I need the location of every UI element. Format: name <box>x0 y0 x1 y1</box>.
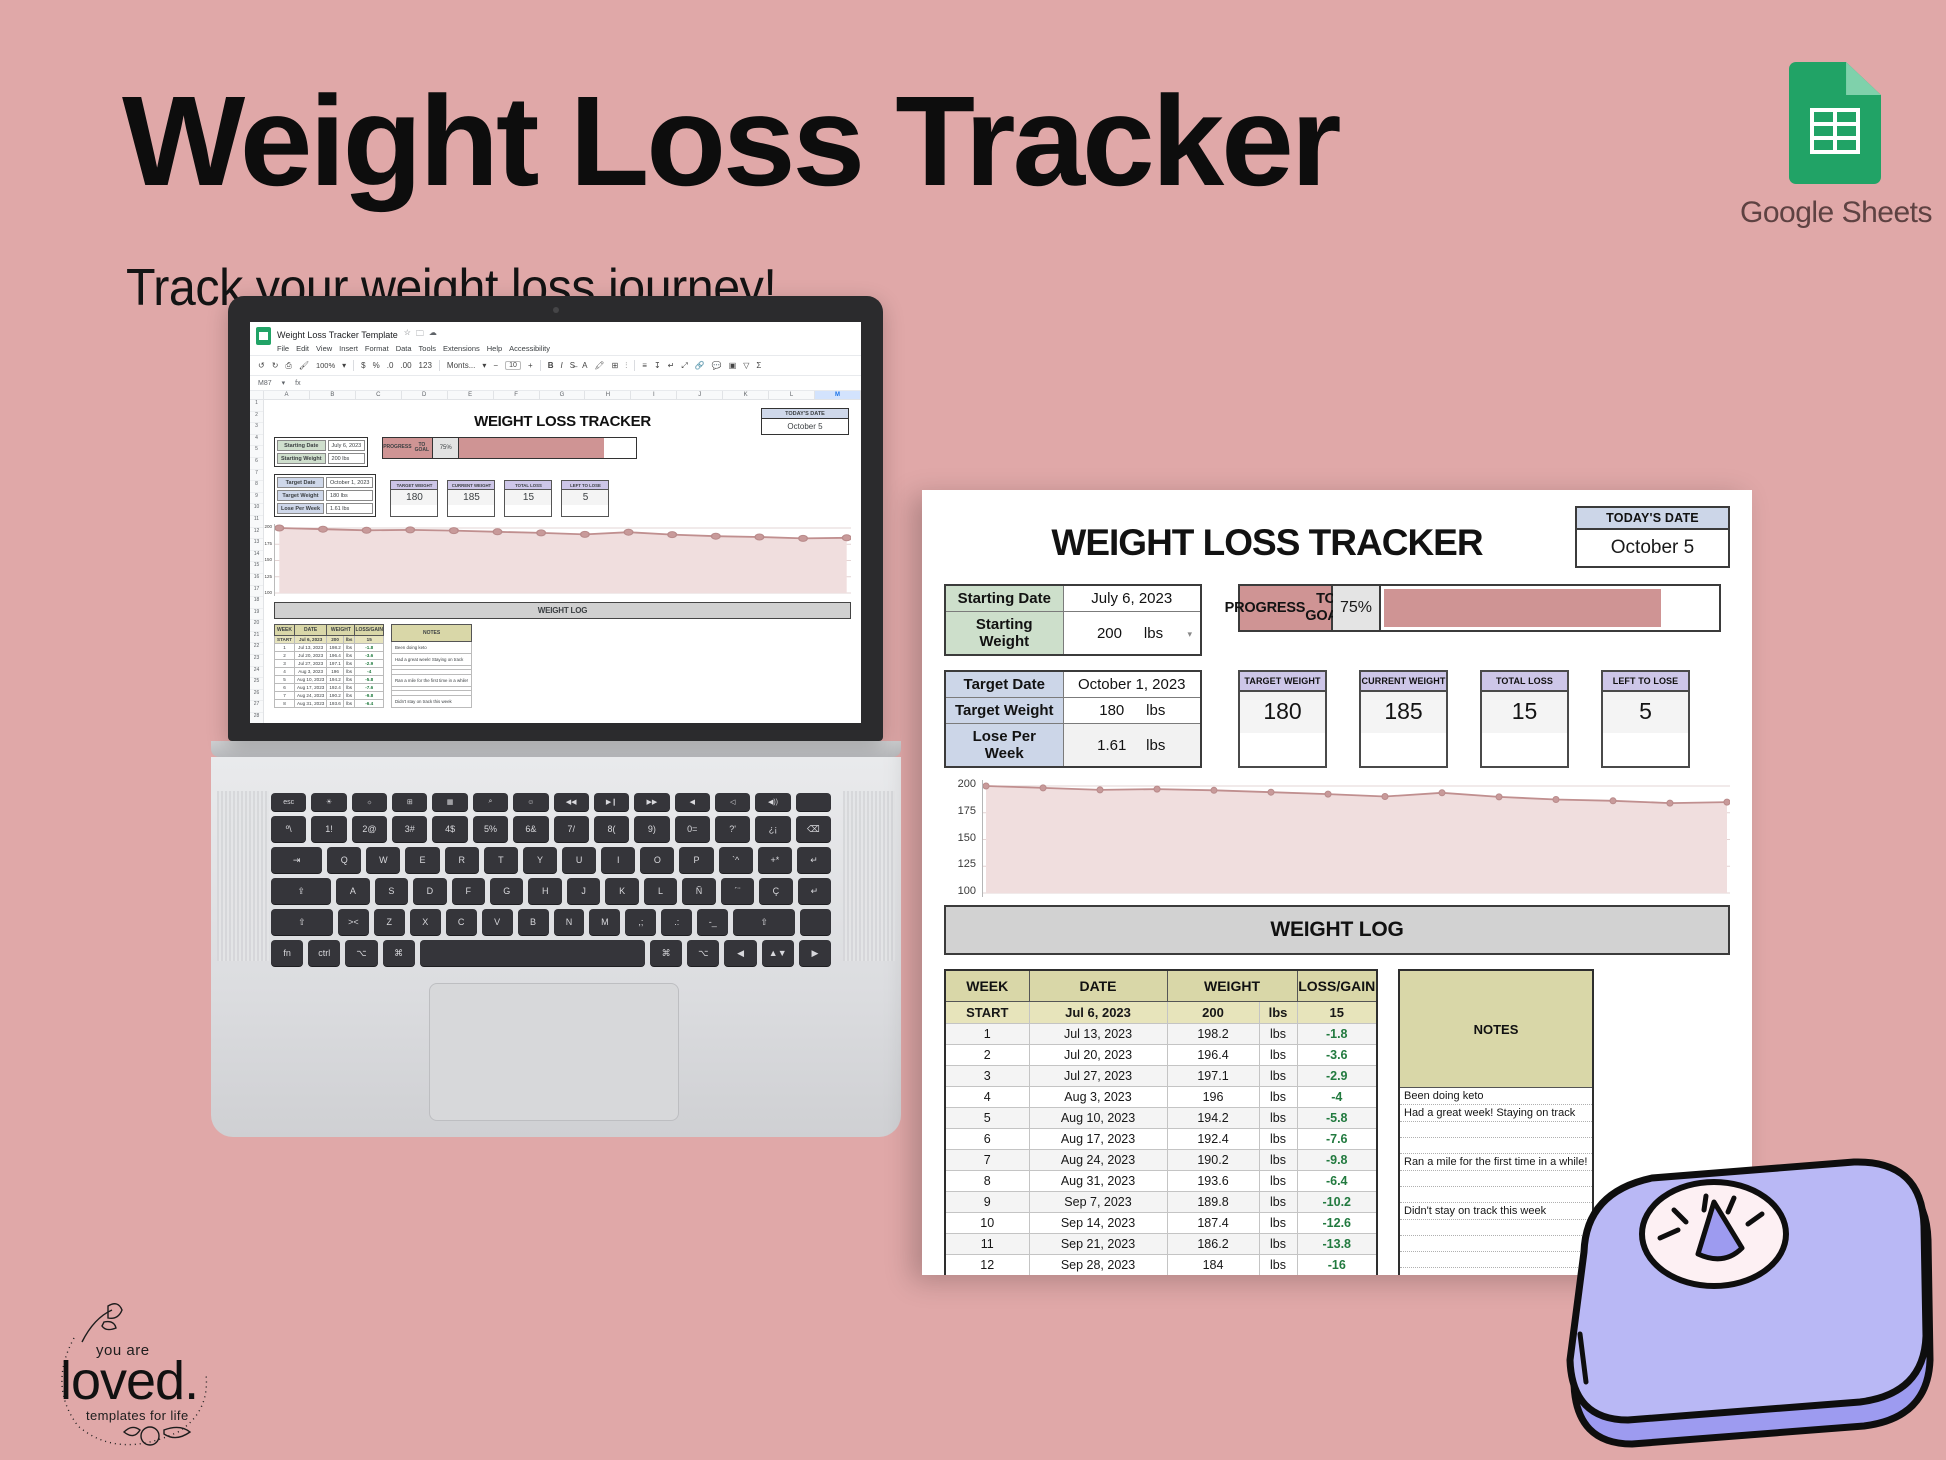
cell-change[interactable]: -5.8 <box>1297 1108 1377 1129</box>
key-[interactable]: ⌫ <box>796 816 831 842</box>
cell-week[interactable]: START <box>945 1002 1029 1024</box>
menu-format[interactable]: Format <box>365 344 389 353</box>
cell-week[interactable]: 8 <box>945 1171 1029 1192</box>
undo-icon[interactable]: ↺ <box>258 361 265 370</box>
cell-change[interactable]: -16 <box>1297 1255 1377 1276</box>
key-v[interactable]: V <box>482 909 513 935</box>
text-color-icon[interactable]: A <box>582 361 587 370</box>
table-row[interactable] <box>1399 1122 1593 1138</box>
key-blank[interactable] <box>796 793 831 811</box>
table-row[interactable]: 1Jul 13, 2023198.2lbs-1.8 <box>945 1024 1377 1045</box>
row-header[interactable]: 23 <box>250 655 263 667</box>
key-9[interactable]: 9) <box>634 816 669 842</box>
key-8[interactable]: 8( <box>594 816 629 842</box>
key-[interactable]: ↵ <box>797 847 831 873</box>
row-header[interactable]: 3 <box>250 423 263 435</box>
key-[interactable]: Ñ <box>682 878 715 904</box>
cell-week[interactable]: 8 <box>275 700 295 708</box>
cell-weight[interactable]: 190.2 <box>1167 1150 1259 1171</box>
row-header[interactable]: 9 <box>250 493 263 505</box>
key-[interactable]: >< <box>338 909 369 935</box>
cell-weight[interactable]: 194.2 <box>1167 1108 1259 1129</box>
row-header[interactable]: 27 <box>250 701 263 713</box>
cell-unit[interactable]: lbs <box>1259 1002 1297 1024</box>
mini-todays-date-value[interactable]: October 5 <box>762 419 848 434</box>
table-row[interactable]: STARTJul 6, 2023200lbs15 <box>275 636 384 644</box>
table-row[interactable]: Ran a mile for the first time in a while… <box>391 674 471 686</box>
key-[interactable]: ☺ <box>513 793 548 811</box>
cell-week[interactable]: 2 <box>945 1045 1029 1066</box>
mini-starting-weight-value[interactable]: 200 lbs <box>328 453 366 464</box>
key-[interactable]: ⇧ <box>733 909 795 935</box>
more-formats-icon[interactable]: 123 <box>419 361 432 370</box>
key-n[interactable]: N <box>554 909 585 935</box>
cell-unit[interactable]: lbs <box>1259 1129 1297 1150</box>
cell-note[interactable]: Ran a mile for the first time in a while… <box>391 674 471 686</box>
cell-note[interactable] <box>1399 1122 1593 1138</box>
row-header[interactable]: 25 <box>250 678 263 690</box>
print-icon[interactable]: ⎙ <box>285 361 291 371</box>
cell-change[interactable]: -3.6 <box>1297 1045 1377 1066</box>
text-wrap-icon[interactable]: ↵ <box>668 361 675 370</box>
key-m[interactable]: M <box>589 909 620 935</box>
cell-week[interactable]: 2 <box>275 652 295 660</box>
row-header[interactable]: 18 <box>250 597 263 609</box>
key-r[interactable]: R <box>445 847 479 873</box>
key-p[interactable]: P <box>679 847 713 873</box>
chevron-down-icon[interactable]: ▾ <box>282 379 286 387</box>
key-x[interactable]: X <box>410 909 441 935</box>
key-l[interactable]: L <box>644 878 677 904</box>
key-[interactable]: ◁ <box>715 793 750 811</box>
select-all-corner[interactable] <box>250 391 264 399</box>
cell-weight[interactable]: 196.4 <box>327 652 344 660</box>
row-header[interactable]: 2 <box>250 412 263 424</box>
menu-insert[interactable]: Insert <box>339 344 358 353</box>
key-[interactable]: -_ <box>697 909 728 935</box>
key-ctrl[interactable]: ctrl <box>308 940 340 966</box>
key-[interactable]: ◀ <box>675 793 710 811</box>
merge-cells-icon[interactable]: ⫶ <box>625 361 627 371</box>
key-t[interactable]: T <box>484 847 518 873</box>
key-blank[interactable] <box>800 909 831 935</box>
menu-accessibility[interactable]: Accessibility <box>509 344 550 353</box>
chevron-down-icon[interactable]: ▾ <box>342 361 346 370</box>
cell-weight[interactable]: 198.2 <box>327 644 344 652</box>
chevron-down-icon[interactable]: ▾ <box>1187 629 1192 640</box>
cell-weight[interactable]: 196 <box>1167 1087 1259 1108</box>
cell-change[interactable]: -2.9 <box>355 660 384 668</box>
key-b[interactable]: B <box>518 909 549 935</box>
cell-date[interactable]: Aug 24, 2023 <box>294 692 326 700</box>
table-row[interactable]: 8Aug 31, 2023193.6lbs-6.4 <box>275 700 384 708</box>
key-[interactable]: ⇪ <box>271 878 331 904</box>
cell-weight[interactable]: 192.4 <box>1167 1129 1259 1150</box>
key-k[interactable]: K <box>605 878 638 904</box>
zoom-level[interactable]: 100% <box>316 361 335 370</box>
key-s[interactable]: S <box>375 878 408 904</box>
cell-week[interactable]: 10 <box>945 1213 1029 1234</box>
cell-week[interactable]: 7 <box>945 1150 1029 1171</box>
cell-weight[interactable]: 192.4 <box>327 684 344 692</box>
row-header[interactable]: 4 <box>250 435 263 447</box>
mini-target-date-value[interactable]: October 1, 2023 <box>326 477 373 488</box>
table-row[interactable]: Had a great week! Staying on track <box>391 653 471 665</box>
cell-unit[interactable]: lbs <box>1259 1192 1297 1213</box>
row-header[interactable]: 24 <box>250 667 263 679</box>
borders-icon[interactable]: ⊞ <box>612 361 619 370</box>
cell-date[interactable]: Aug 10, 2023 <box>294 676 326 684</box>
cell-date[interactable]: Aug 24, 2023 <box>1029 1150 1167 1171</box>
key-d[interactable]: D <box>413 878 446 904</box>
key-[interactable]: ◀ <box>724 940 756 966</box>
cell-unit[interactable]: lbs <box>343 692 355 700</box>
cell-weight[interactable]: 187.4 <box>1167 1213 1259 1234</box>
horizontal-align-icon[interactable]: ≡ <box>642 361 647 370</box>
keyboard[interactable]: esc☀☼⊞▦⌕☺◀◀▶❙▶▶◀◁◀))º\1!2@3#4$5%6&7/8(9)… <box>271 793 831 971</box>
key-[interactable]: ▶ <box>799 940 831 966</box>
column-header-i[interactable]: I <box>631 391 677 399</box>
table-row[interactable]: 7Aug 24, 2023190.2lbs-9.8 <box>945 1150 1377 1171</box>
column-header-k[interactable]: K <box>723 391 769 399</box>
cell-date[interactable]: Jul 27, 2023 <box>294 660 326 668</box>
increase-font-icon[interactable]: + <box>528 361 533 370</box>
redo-icon[interactable]: ↻ <box>272 361 279 370</box>
key-[interactable]: ◀◀ <box>554 793 589 811</box>
cell-note[interactable]: Didn't stay on track this week <box>391 695 471 707</box>
table-row[interactable]: 10Sep 14, 2023187.4lbs-12.6 <box>945 1213 1377 1234</box>
cell-week[interactable]: 1 <box>945 1024 1029 1045</box>
cell-week[interactable]: 7 <box>275 692 295 700</box>
cell-date[interactable]: Sep 14, 2023 <box>1029 1213 1167 1234</box>
column-header-b[interactable]: B <box>310 391 356 399</box>
cell-unit[interactable]: lbs <box>1259 1213 1297 1234</box>
menu-tools[interactable]: Tools <box>419 344 437 353</box>
table-row[interactable]: 4Aug 3, 2023196lbs-4 <box>275 668 384 676</box>
insert-link-icon[interactable]: 🔗 <box>695 361 705 370</box>
cell-change[interactable]: -13.8 <box>1297 1234 1377 1255</box>
table-row[interactable]: Had a great week! Staying on track <box>1399 1105 1593 1122</box>
column-header-a[interactable]: A <box>264 391 310 399</box>
key-7[interactable]: 7/ <box>554 816 589 842</box>
star-icon[interactable]: ☆ <box>404 328 411 342</box>
cell-unit[interactable]: lbs <box>343 660 355 668</box>
cell-week[interactable]: 5 <box>945 1108 1029 1129</box>
table-row[interactable]: 3Jul 27, 2023197.1lbs-2.9 <box>275 660 384 668</box>
cell-change[interactable]: -10.2 <box>1297 1192 1377 1213</box>
key-e[interactable]: E <box>405 847 439 873</box>
starting-date-value[interactable]: July 6, 2023 <box>1063 585 1201 612</box>
increase-decimal-icon[interactable]: .00 <box>400 361 411 370</box>
vertical-align-icon[interactable]: ↧ <box>654 361 661 370</box>
cell-weight[interactable]: 189.8 <box>1167 1192 1259 1213</box>
cell-date[interactable]: Jul 6, 2023 <box>1029 1002 1167 1024</box>
cell-date[interactable]: Aug 31, 2023 <box>1029 1171 1167 1192</box>
cell-unit[interactable]: lbs <box>1259 1087 1297 1108</box>
column-header-m[interactable]: M <box>815 391 861 399</box>
cell-unit[interactable]: lbs <box>343 700 355 708</box>
key-4[interactable]: 4$ <box>432 816 467 842</box>
fill-color-icon[interactable]: 🖍 <box>594 361 604 370</box>
cell-weight[interactable]: 200 <box>1167 1002 1259 1024</box>
cell-date[interactable]: Jul 13, 2023 <box>1029 1024 1167 1045</box>
key-c[interactable]: C <box>446 909 477 935</box>
cell-weight[interactable]: 190.2 <box>327 692 344 700</box>
starting-weight-value[interactable]: 200lbs▾ <box>1063 612 1201 656</box>
cell-date[interactable]: Sep 7, 2023 <box>1029 1192 1167 1213</box>
key-[interactable]: ⌥ <box>345 940 377 966</box>
key-h[interactable]: H <box>528 878 561 904</box>
key-[interactable]: ´¨ <box>721 878 754 904</box>
key-z[interactable]: Z <box>374 909 405 935</box>
key-[interactable]: ◀)) <box>755 793 790 811</box>
currency-format-icon[interactable]: $ <box>361 361 365 370</box>
cell-unit[interactable]: lbs <box>1259 1045 1297 1066</box>
cell-change[interactable]: -1.8 <box>355 644 384 652</box>
strikethrough-icon[interactable]: S̶ <box>570 361 575 370</box>
key-[interactable]: ▶▶ <box>634 793 669 811</box>
cell-week[interactable]: 3 <box>945 1066 1029 1087</box>
row-header[interactable]: 19 <box>250 609 263 621</box>
cell-week[interactable]: 3 <box>275 660 295 668</box>
cell-weight[interactable]: 193.6 <box>327 700 344 708</box>
column-header-j[interactable]: J <box>677 391 723 399</box>
row-header[interactable]: 28 <box>250 713 263 723</box>
cell-change[interactable]: -2.9 <box>1297 1066 1377 1087</box>
column-header-g[interactable]: G <box>540 391 586 399</box>
target-date-value[interactable]: October 1, 2023 <box>1063 671 1201 698</box>
cell-change[interactable]: -9.8 <box>355 692 384 700</box>
key-[interactable]: ⌘ <box>650 940 682 966</box>
cell-unit[interactable]: lbs <box>343 644 355 652</box>
cell-weight[interactable]: 193.6 <box>1167 1171 1259 1192</box>
document-title[interactable]: Weight Loss Tracker Template <box>277 330 398 340</box>
table-row[interactable]: 9Sep 7, 2023189.8lbs-10.2 <box>945 1192 1377 1213</box>
trackpad[interactable] <box>429 983 679 1121</box>
mini-starting-date-value[interactable]: July 6, 2023 <box>328 440 366 451</box>
menu-data[interactable]: Data <box>396 344 412 353</box>
cell-week[interactable]: 12 <box>945 1255 1029 1276</box>
cell-week[interactable]: 5 <box>275 676 295 684</box>
menu-edit[interactable]: Edit <box>296 344 309 353</box>
column-header-f[interactable]: F <box>494 391 540 399</box>
cell-weight[interactable]: 197.1 <box>1167 1066 1259 1087</box>
key-[interactable]: Ç <box>759 878 792 904</box>
cloud-status-icon[interactable]: ☁ <box>429 328 437 342</box>
table-row[interactable]: 3Jul 27, 2023197.1lbs-2.9 <box>945 1066 1377 1087</box>
key-q[interactable]: Q <box>327 847 361 873</box>
key-[interactable]: ▲▼ <box>762 940 794 966</box>
key-0[interactable]: 0= <box>675 816 710 842</box>
todays-date-value[interactable]: October 5 <box>1577 530 1728 566</box>
key-[interactable]: ⊞ <box>392 793 427 811</box>
cell-note[interactable]: Been doing keto <box>391 641 471 653</box>
table-row[interactable]: 11Sep 21, 2023186.2lbs-13.8 <box>945 1234 1377 1255</box>
table-row[interactable]: Been doing keto <box>1399 1088 1593 1105</box>
cell-change[interactable]: -9.8 <box>1297 1150 1377 1171</box>
cell-unit[interactable]: lbs <box>343 668 355 676</box>
key-esc[interactable]: esc <box>271 793 306 811</box>
italic-icon[interactable]: I <box>561 361 563 370</box>
menu-help[interactable]: Help <box>487 344 502 353</box>
cell-weight[interactable]: 186.2 <box>1167 1234 1259 1255</box>
row-header[interactable]: 8 <box>250 481 263 493</box>
text-rotation-icon[interactable]: ⤢ <box>681 361 687 371</box>
key-3[interactable]: 3# <box>392 816 427 842</box>
cell-weight[interactable]: 198.2 <box>1167 1024 1259 1045</box>
cell-week[interactable]: 9 <box>945 1192 1029 1213</box>
table-row[interactable]: 2Jul 20, 2023196.4lbs-3.6 <box>945 1045 1377 1066</box>
cell-unit[interactable]: lbs <box>1259 1066 1297 1087</box>
cell-week[interactable]: 6 <box>945 1129 1029 1150</box>
cell-weight[interactable]: 184 <box>1167 1255 1259 1276</box>
table-row[interactable]: 1Jul 13, 2023198.2lbs-1.8 <box>275 644 384 652</box>
key-f[interactable]: F <box>452 878 485 904</box>
cell-unit[interactable]: lbs <box>343 684 355 692</box>
mini-target-weight-value[interactable]: 180 lbs <box>326 490 373 501</box>
cell-unit[interactable]: lbs <box>1259 1255 1297 1276</box>
key-[interactable]: ⇧ <box>271 909 333 935</box>
cell-week[interactable]: 6 <box>275 684 295 692</box>
cell-note[interactable]: Been doing keto <box>1399 1088 1593 1105</box>
key-j[interactable]: J <box>567 878 600 904</box>
row-header[interactable]: 26 <box>250 690 263 702</box>
cell-date[interactable]: Aug 3, 2023 <box>294 668 326 676</box>
cell-week[interactable]: 1 <box>275 644 295 652</box>
decrease-font-icon[interactable]: − <box>493 361 498 370</box>
cell-change[interactable]: -6.4 <box>1297 1171 1377 1192</box>
key-[interactable]: `^ <box>719 847 753 873</box>
cell-date[interactable]: Aug 17, 2023 <box>1029 1129 1167 1150</box>
chevron-down-icon[interactable]: ▾ <box>482 361 486 370</box>
cell-date[interactable]: Sep 28, 2023 <box>1029 1255 1167 1276</box>
table-row[interactable]: 6Aug 17, 2023192.4lbs-7.6 <box>945 1129 1377 1150</box>
cell-change[interactable]: 15 <box>1297 1002 1377 1024</box>
cell-change[interactable]: -5.8 <box>355 676 384 684</box>
name-box[interactable]: M87 <box>258 380 272 387</box>
menu-view[interactable]: View <box>316 344 332 353</box>
row-header[interactable]: 20 <box>250 620 263 632</box>
key-[interactable]: ▶❙ <box>594 793 629 811</box>
table-row[interactable]: 12Sep 28, 2023184lbs-16 <box>945 1255 1377 1276</box>
key-[interactable]: ⌥ <box>687 940 719 966</box>
cell-date[interactable]: Jul 20, 2023 <box>1029 1045 1167 1066</box>
paint-format-icon[interactable]: 🖌 <box>299 361 309 370</box>
cell-change[interactable]: 15 <box>355 636 384 644</box>
cell-weight[interactable]: 200 <box>327 636 344 644</box>
key-[interactable]: ☼ <box>352 793 387 811</box>
bold-icon[interactable]: B <box>548 361 554 370</box>
key-[interactable]: +* <box>758 847 792 873</box>
key-u[interactable]: U <box>562 847 596 873</box>
key-5[interactable]: 5% <box>473 816 508 842</box>
table-row[interactable]: 4Aug 3, 2023196lbs-4 <box>945 1087 1377 1108</box>
cell-date[interactable]: Aug 3, 2023 <box>1029 1087 1167 1108</box>
cell-note[interactable]: Had a great week! Staying on track <box>1399 1105 1593 1122</box>
key-[interactable]: ☀ <box>311 793 346 811</box>
cell-date[interactable]: Jul 6, 2023 <box>294 636 326 644</box>
key-g[interactable]: G <box>490 878 523 904</box>
cell-unit[interactable]: lbs <box>1259 1171 1297 1192</box>
table-row[interactable]: 7Aug 24, 2023190.2lbs-9.8 <box>275 692 384 700</box>
column-header-h[interactable]: H <box>585 391 631 399</box>
menu-extensions[interactable]: Extensions <box>443 344 480 353</box>
key-i[interactable]: I <box>601 847 635 873</box>
cell-unit[interactable]: lbs <box>1259 1024 1297 1045</box>
key-[interactable]: .: <box>661 909 692 935</box>
functions-icon[interactable]: Σ <box>756 361 761 370</box>
row-header[interactable]: 6 <box>250 458 263 470</box>
decrease-decimal-icon[interactable]: .0 <box>387 361 394 370</box>
percent-format-icon[interactable]: % <box>373 361 380 370</box>
key-fn[interactable]: fn <box>271 940 303 966</box>
cell-week[interactable]: 4 <box>275 668 295 676</box>
key-[interactable]: ⌕ <box>473 793 508 811</box>
row-header[interactable]: 7 <box>250 470 263 482</box>
cell-weight[interactable]: 196.4 <box>1167 1045 1259 1066</box>
key-o[interactable]: O <box>640 847 674 873</box>
cell-unit[interactable]: lbs <box>343 636 355 644</box>
row-header[interactable]: 1 <box>250 400 263 412</box>
cell-change[interactable]: -6.4 <box>355 700 384 708</box>
column-header-c[interactable]: C <box>356 391 402 399</box>
cell-change[interactable]: -7.6 <box>355 684 384 692</box>
key-[interactable]: ⇥ <box>271 847 322 873</box>
insert-chart-icon[interactable]: ▣ <box>729 361 737 370</box>
cell-change[interactable]: -4 <box>355 668 384 676</box>
table-row[interactable]: 8Aug 31, 2023193.6lbs-6.4 <box>945 1171 1377 1192</box>
cell-week[interactable]: 11 <box>945 1234 1029 1255</box>
cell-unit[interactable]: lbs <box>343 676 355 684</box>
column-header-e[interactable]: E <box>448 391 494 399</box>
table-row[interactable]: 5Aug 10, 2023194.2lbs-5.8 <box>945 1108 1377 1129</box>
target-weight-value[interactable]: 180lbs <box>1063 698 1201 724</box>
cell-week[interactable]: 4 <box>945 1087 1029 1108</box>
cell-date[interactable]: Jul 20, 2023 <box>294 652 326 660</box>
table-row[interactable]: Didn't stay on track this week <box>391 695 471 707</box>
row-header[interactable]: 21 <box>250 632 263 644</box>
cell-weight[interactable]: 197.1 <box>327 660 344 668</box>
menu-file[interactable]: File <box>277 344 289 353</box>
row-header[interactable]: 5 <box>250 446 263 458</box>
table-row[interactable]: STARTJul 6, 2023200lbs15 <box>945 1002 1377 1024</box>
cell-change[interactable]: -3.6 <box>355 652 384 660</box>
filter-icon[interactable]: ▽ <box>743 361 749 370</box>
row-header[interactable]: 10 <box>250 504 263 516</box>
cell-date[interactable]: Aug 10, 2023 <box>1029 1108 1167 1129</box>
font-family-select[interactable]: Monts... <box>447 361 475 370</box>
cell-change[interactable]: -4 <box>1297 1087 1377 1108</box>
table-row[interactable]: 2Jul 20, 2023196.4lbs-3.6 <box>275 652 384 660</box>
cell-change[interactable]: -7.6 <box>1297 1129 1377 1150</box>
cell-unit[interactable]: lbs <box>1259 1150 1297 1171</box>
cell-date[interactable]: Sep 21, 2023 <box>1029 1234 1167 1255</box>
cell-date[interactable]: Jul 13, 2023 <box>294 644 326 652</box>
key-1[interactable]: 1! <box>311 816 346 842</box>
key-y[interactable]: Y <box>523 847 557 873</box>
row-header[interactable]: 22 <box>250 643 263 655</box>
font-size-input[interactable]: 10 <box>505 361 521 370</box>
table-row[interactable]: Been doing keto <box>391 641 471 653</box>
key-[interactable]: ↵ <box>798 878 831 904</box>
cell-week[interactable]: START <box>275 636 295 644</box>
column-header-l[interactable]: L <box>769 391 815 399</box>
key-[interactable]: ⌘ <box>383 940 415 966</box>
key-[interactable]: ¿¡ <box>755 816 790 842</box>
move-folder-icon[interactable]: 🗀 <box>416 328 424 342</box>
cell-date[interactable]: Aug 31, 2023 <box>294 700 326 708</box>
cell-weight[interactable]: 194.2 <box>327 676 344 684</box>
